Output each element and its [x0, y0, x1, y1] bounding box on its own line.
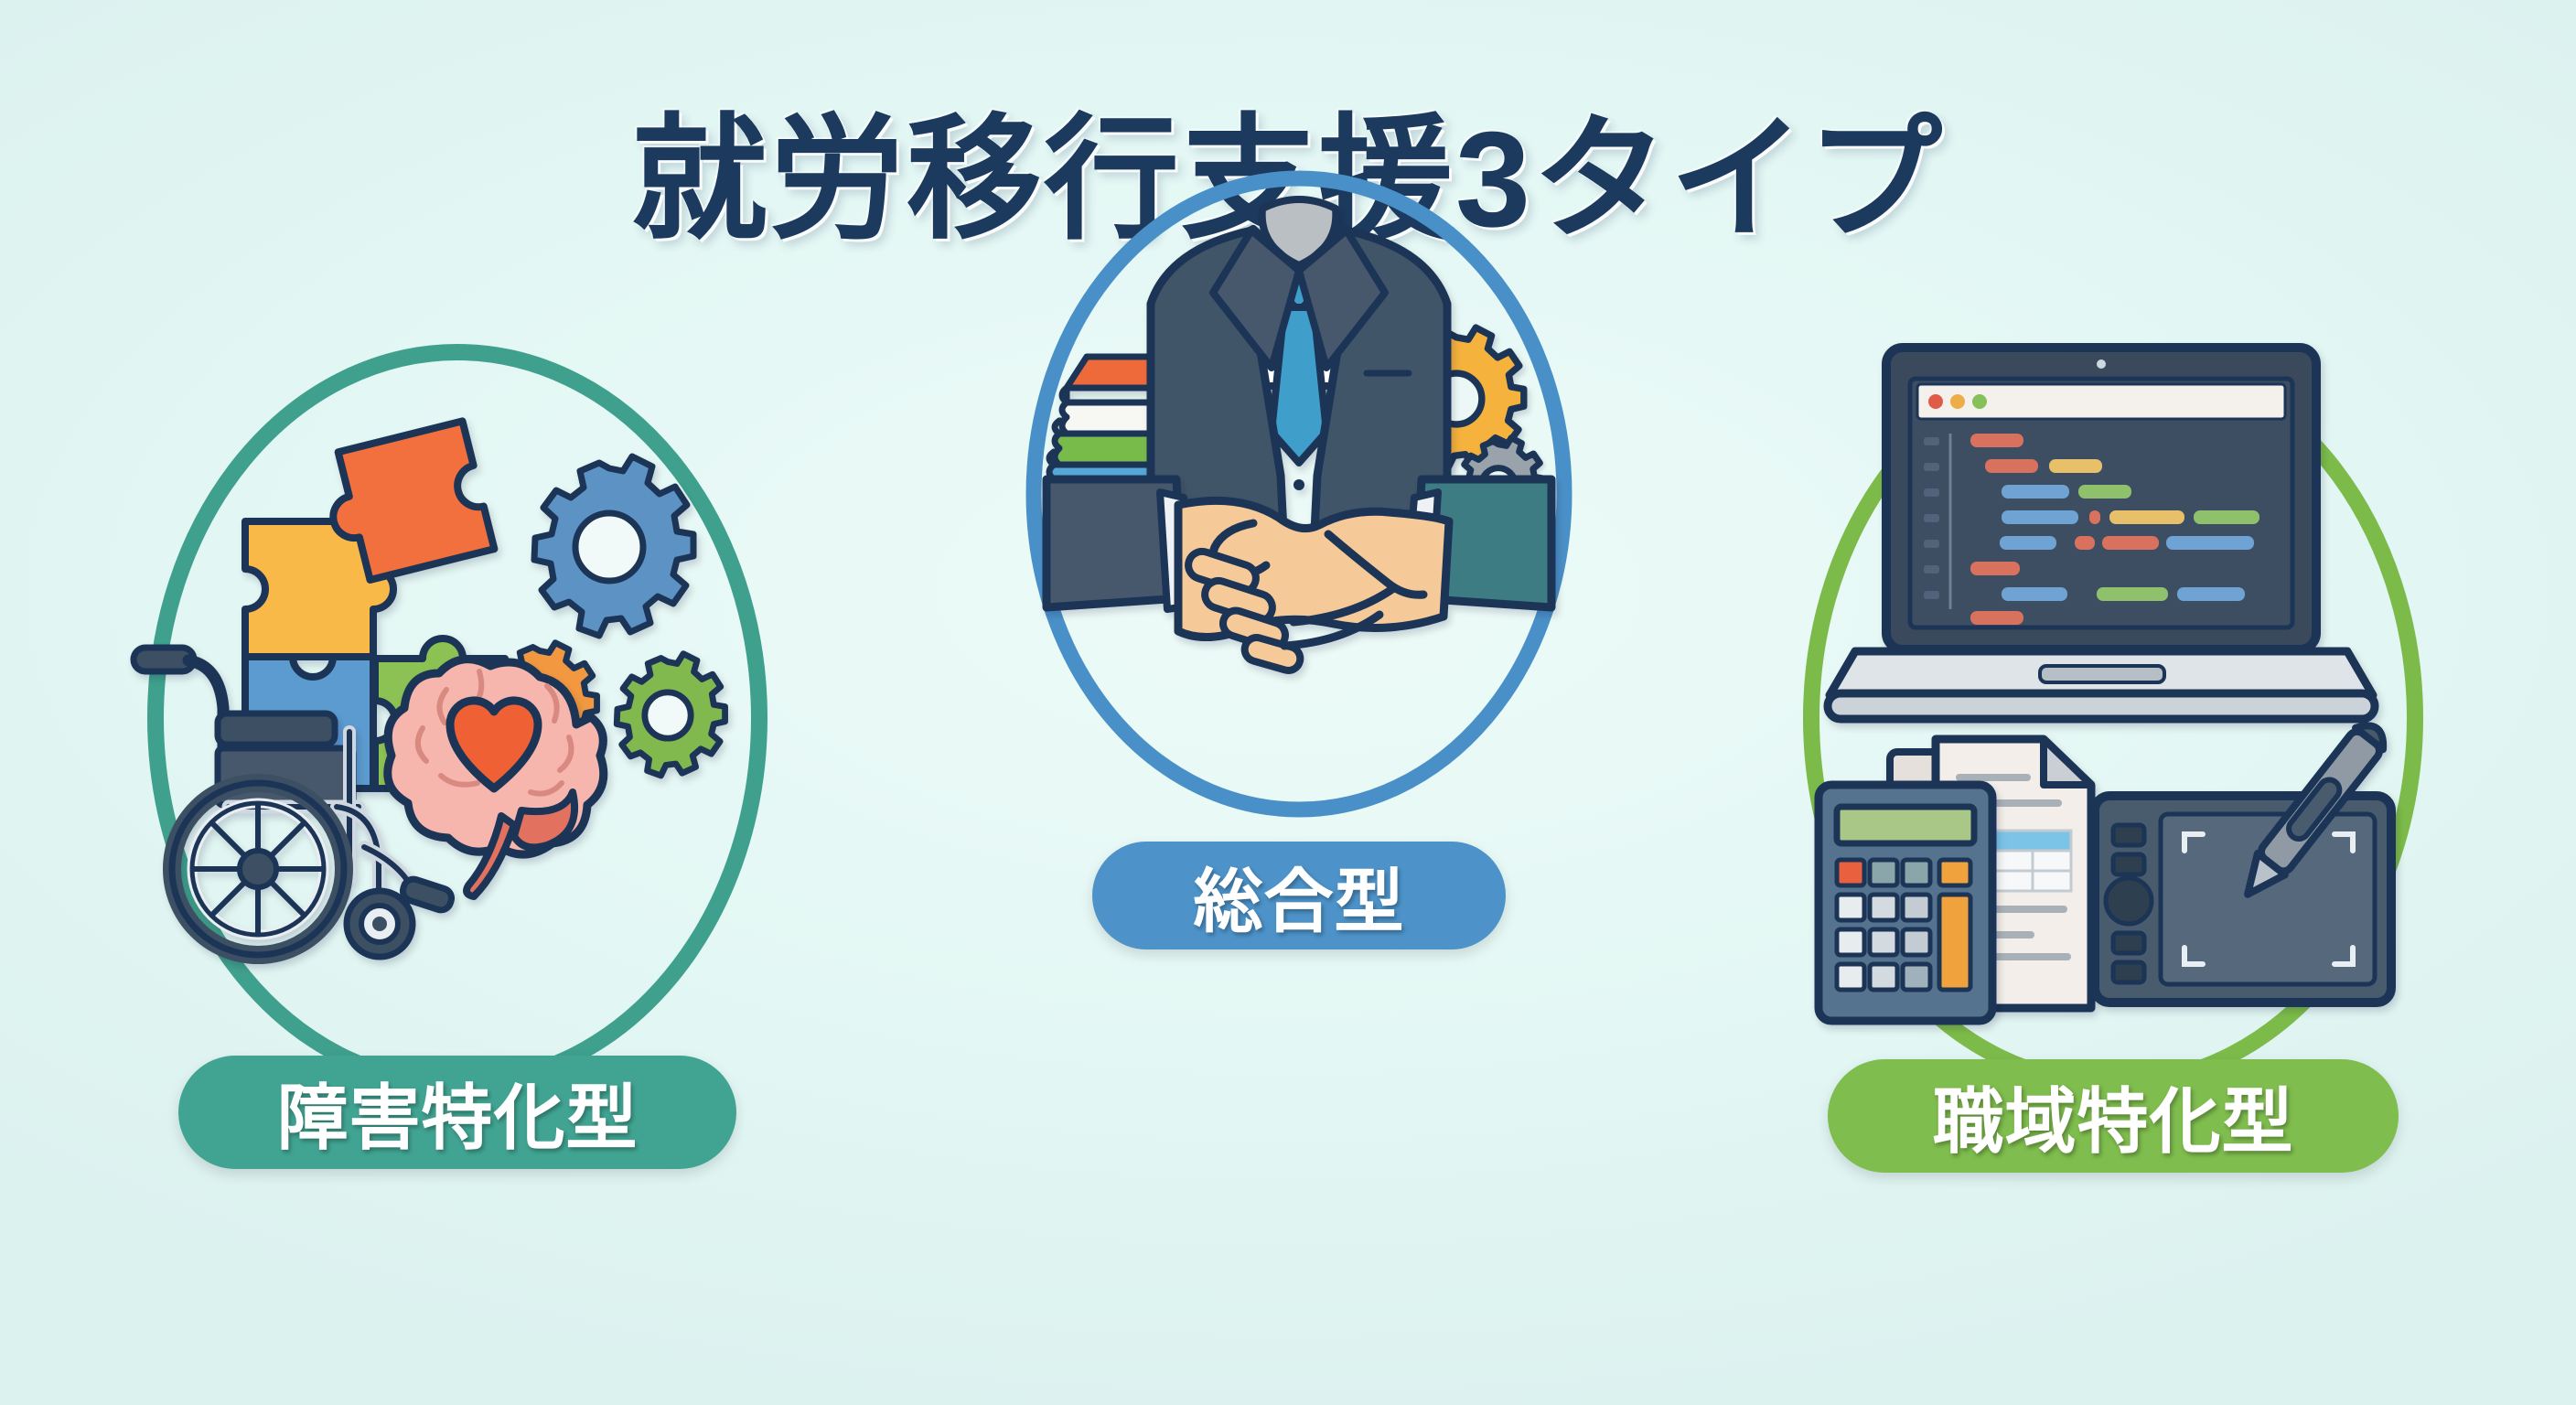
type-card-disability[interactable]: 障害特化型 — [101, 302, 814, 1125]
type-card-general[interactable]: 総合型 — [979, 128, 1619, 915]
label-disability[interactable]: 障害特化型 — [178, 1056, 736, 1169]
calculator-icon — [1819, 785, 1992, 1021]
label-general[interactable]: 総合型 — [1092, 842, 1506, 949]
disability-illustration — [101, 302, 814, 1125]
type-card-vocational[interactable]: 職域特化型 — [1756, 302, 2470, 1125]
general-illustration — [979, 128, 1619, 915]
laptop-code-icon — [1828, 348, 2375, 719]
drawing-tablet-stylus-icon — [2095, 718, 2391, 1003]
label-vocational[interactable]: 職域特化型 — [1828, 1059, 2399, 1173]
vocational-illustration — [1756, 302, 2470, 1125]
gear-green — [617, 654, 724, 776]
brain-heart-icon — [388, 660, 604, 896]
gear-blue — [534, 456, 693, 636]
handshake-icon — [1046, 479, 1551, 673]
